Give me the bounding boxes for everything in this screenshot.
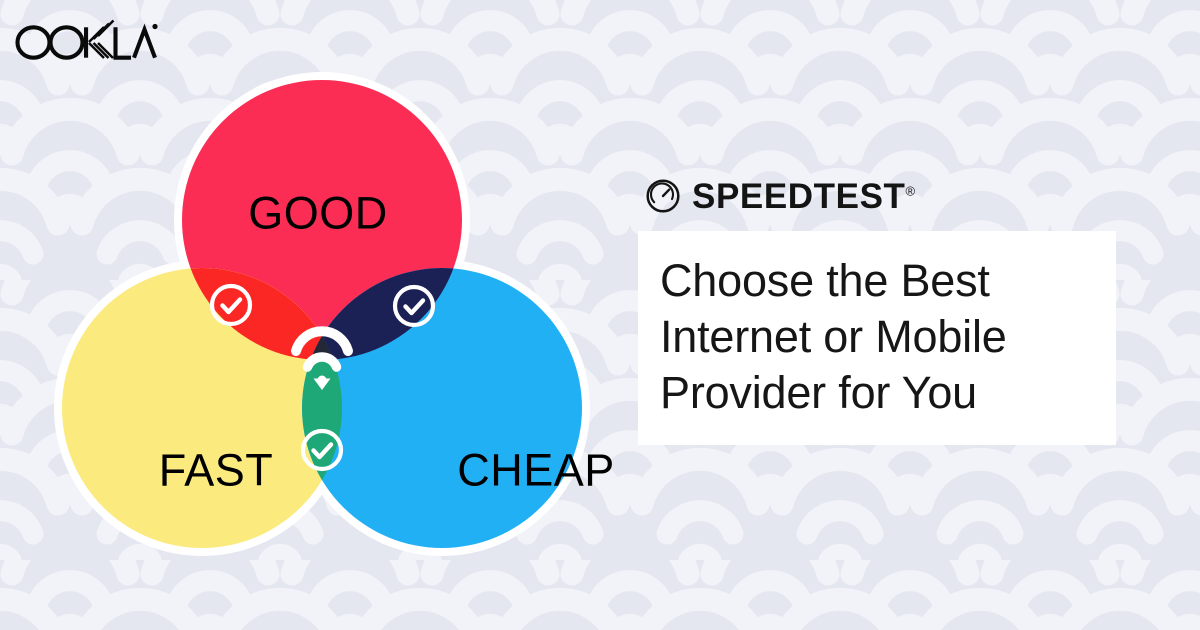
venn-label-cheap: CHEAP [457, 448, 615, 493]
headline-card: Choose the Best Internet or Mobile Provi… [638, 231, 1116, 445]
speedtest-wordmark: SPEEDTEST® [692, 179, 915, 214]
promo-banner: GOOD FAST CHEAP SPEEDTEST® Choose the Be… [0, 0, 1200, 630]
registered-trademark-mark: ® [906, 183, 916, 198]
headline-line-2: Internet or Mobile [660, 309, 1090, 365]
venn-label-good: GOOD [248, 191, 388, 236]
speedometer-gauge-icon [646, 179, 680, 213]
venn-label-fast: FAST [159, 448, 274, 493]
headline-line-1: Choose the Best [660, 253, 1090, 309]
headline-line-3: Provider for You [660, 365, 1090, 421]
ookla-logo [14, 17, 160, 63]
speedtest-logo: SPEEDTEST® [646, 176, 915, 216]
venn-diagram: GOOD FAST CHEAP [50, 58, 595, 568]
headline-text: Choose the Best Internet or Mobile Provi… [660, 253, 1090, 421]
speedtest-wordmark-text: SPEEDTEST [692, 177, 906, 216]
